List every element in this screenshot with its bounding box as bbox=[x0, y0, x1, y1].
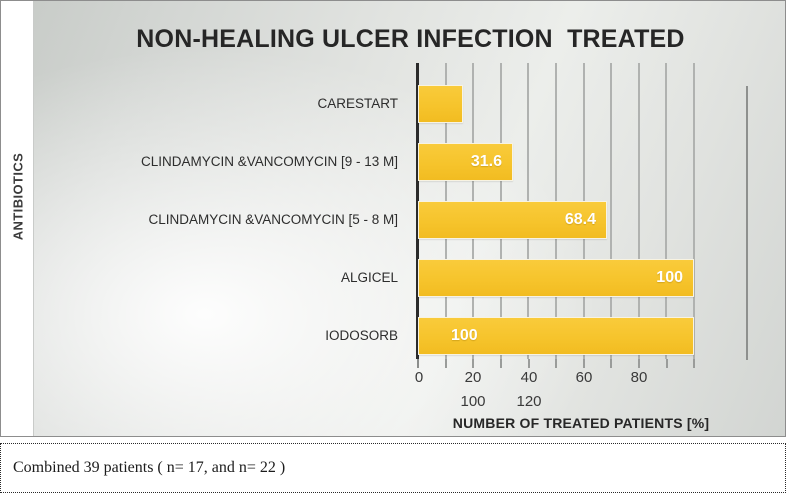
chart-figure: ANTIBIOTICS NON-HEALING ULCER INFECTION … bbox=[0, 0, 786, 437]
gridline-80 bbox=[638, 63, 640, 359]
category-label-group: CARESTART CLINDAMYCIN &VANCOMYCIN [9 - 1… bbox=[1, 63, 406, 359]
tick-label-60: 60 bbox=[564, 369, 604, 386]
chart-title: NON-HEALING ULCER INFECTION TREATED bbox=[34, 25, 786, 54]
tick-90 bbox=[666, 359, 668, 368]
tick-label-120: 120 bbox=[509, 393, 549, 410]
tick-label-80: 80 bbox=[619, 369, 659, 386]
bar-iodosorb[interactable]: 100 bbox=[418, 317, 694, 355]
tick-70 bbox=[610, 359, 612, 368]
caption-text: Combined 39 patients ( n= 17, and n= 22 … bbox=[3, 446, 783, 490]
caption-box: Combined 39 patients ( n= 17, and n= 22 … bbox=[0, 443, 786, 493]
tick-10 bbox=[445, 359, 447, 368]
tick-60 bbox=[583, 359, 585, 368]
tick-30 bbox=[500, 359, 502, 368]
category-label-carestart: CARESTART bbox=[317, 85, 398, 123]
gridline-100 bbox=[693, 63, 695, 359]
bar-value-algicel: 100 bbox=[656, 269, 683, 287]
tick-100 bbox=[693, 359, 695, 368]
tick-20 bbox=[472, 359, 474, 368]
category-label-clinda-9-13: CLINDAMYCIN &VANCOMYCIN [9 - 13 M] bbox=[141, 143, 398, 181]
bar-algicel[interactable]: 100 bbox=[418, 259, 694, 297]
category-label-algicel: ALGICEL bbox=[341, 259, 398, 297]
bar-value-clinda-9-13: 31.6 bbox=[471, 153, 502, 171]
bar-value-iodosorb: 100 bbox=[451, 327, 478, 345]
bar-clinda-9-13[interactable]: 31.6 bbox=[418, 143, 513, 181]
plot-area: 31.6 68.4 100 100 bbox=[418, 63, 694, 359]
x-axis-title: NUMBER OF TREATED PATIENTS [%] bbox=[421, 415, 741, 431]
tick-label-40: 40 bbox=[509, 369, 549, 386]
screenshot-root: ANTIBIOTICS NON-HEALING ULCER INFECTION … bbox=[0, 0, 786, 493]
category-label-iodosorb: IODOSORB bbox=[325, 317, 398, 355]
tick-0 bbox=[417, 359, 419, 368]
tick-label-20: 20 bbox=[453, 369, 493, 386]
tick-50 bbox=[555, 359, 557, 368]
bar-clinda-5-8[interactable]: 68.4 bbox=[418, 201, 607, 239]
bar-value-clinda-5-8: 68.4 bbox=[565, 211, 596, 229]
category-label-clinda-5-8: CLINDAMYCIN &VANCOMYCIN [5 - 8 M] bbox=[148, 201, 398, 239]
gridline-90 bbox=[665, 63, 667, 359]
tick-label-100: 100 bbox=[453, 393, 493, 410]
tick-label-0: 0 bbox=[399, 369, 439, 386]
bar-carestart[interactable] bbox=[418, 85, 463, 123]
tick-80 bbox=[638, 359, 640, 368]
tick-40 bbox=[528, 359, 530, 368]
gridline-70 bbox=[610, 63, 612, 359]
gridline-outlier-right bbox=[746, 86, 748, 360]
